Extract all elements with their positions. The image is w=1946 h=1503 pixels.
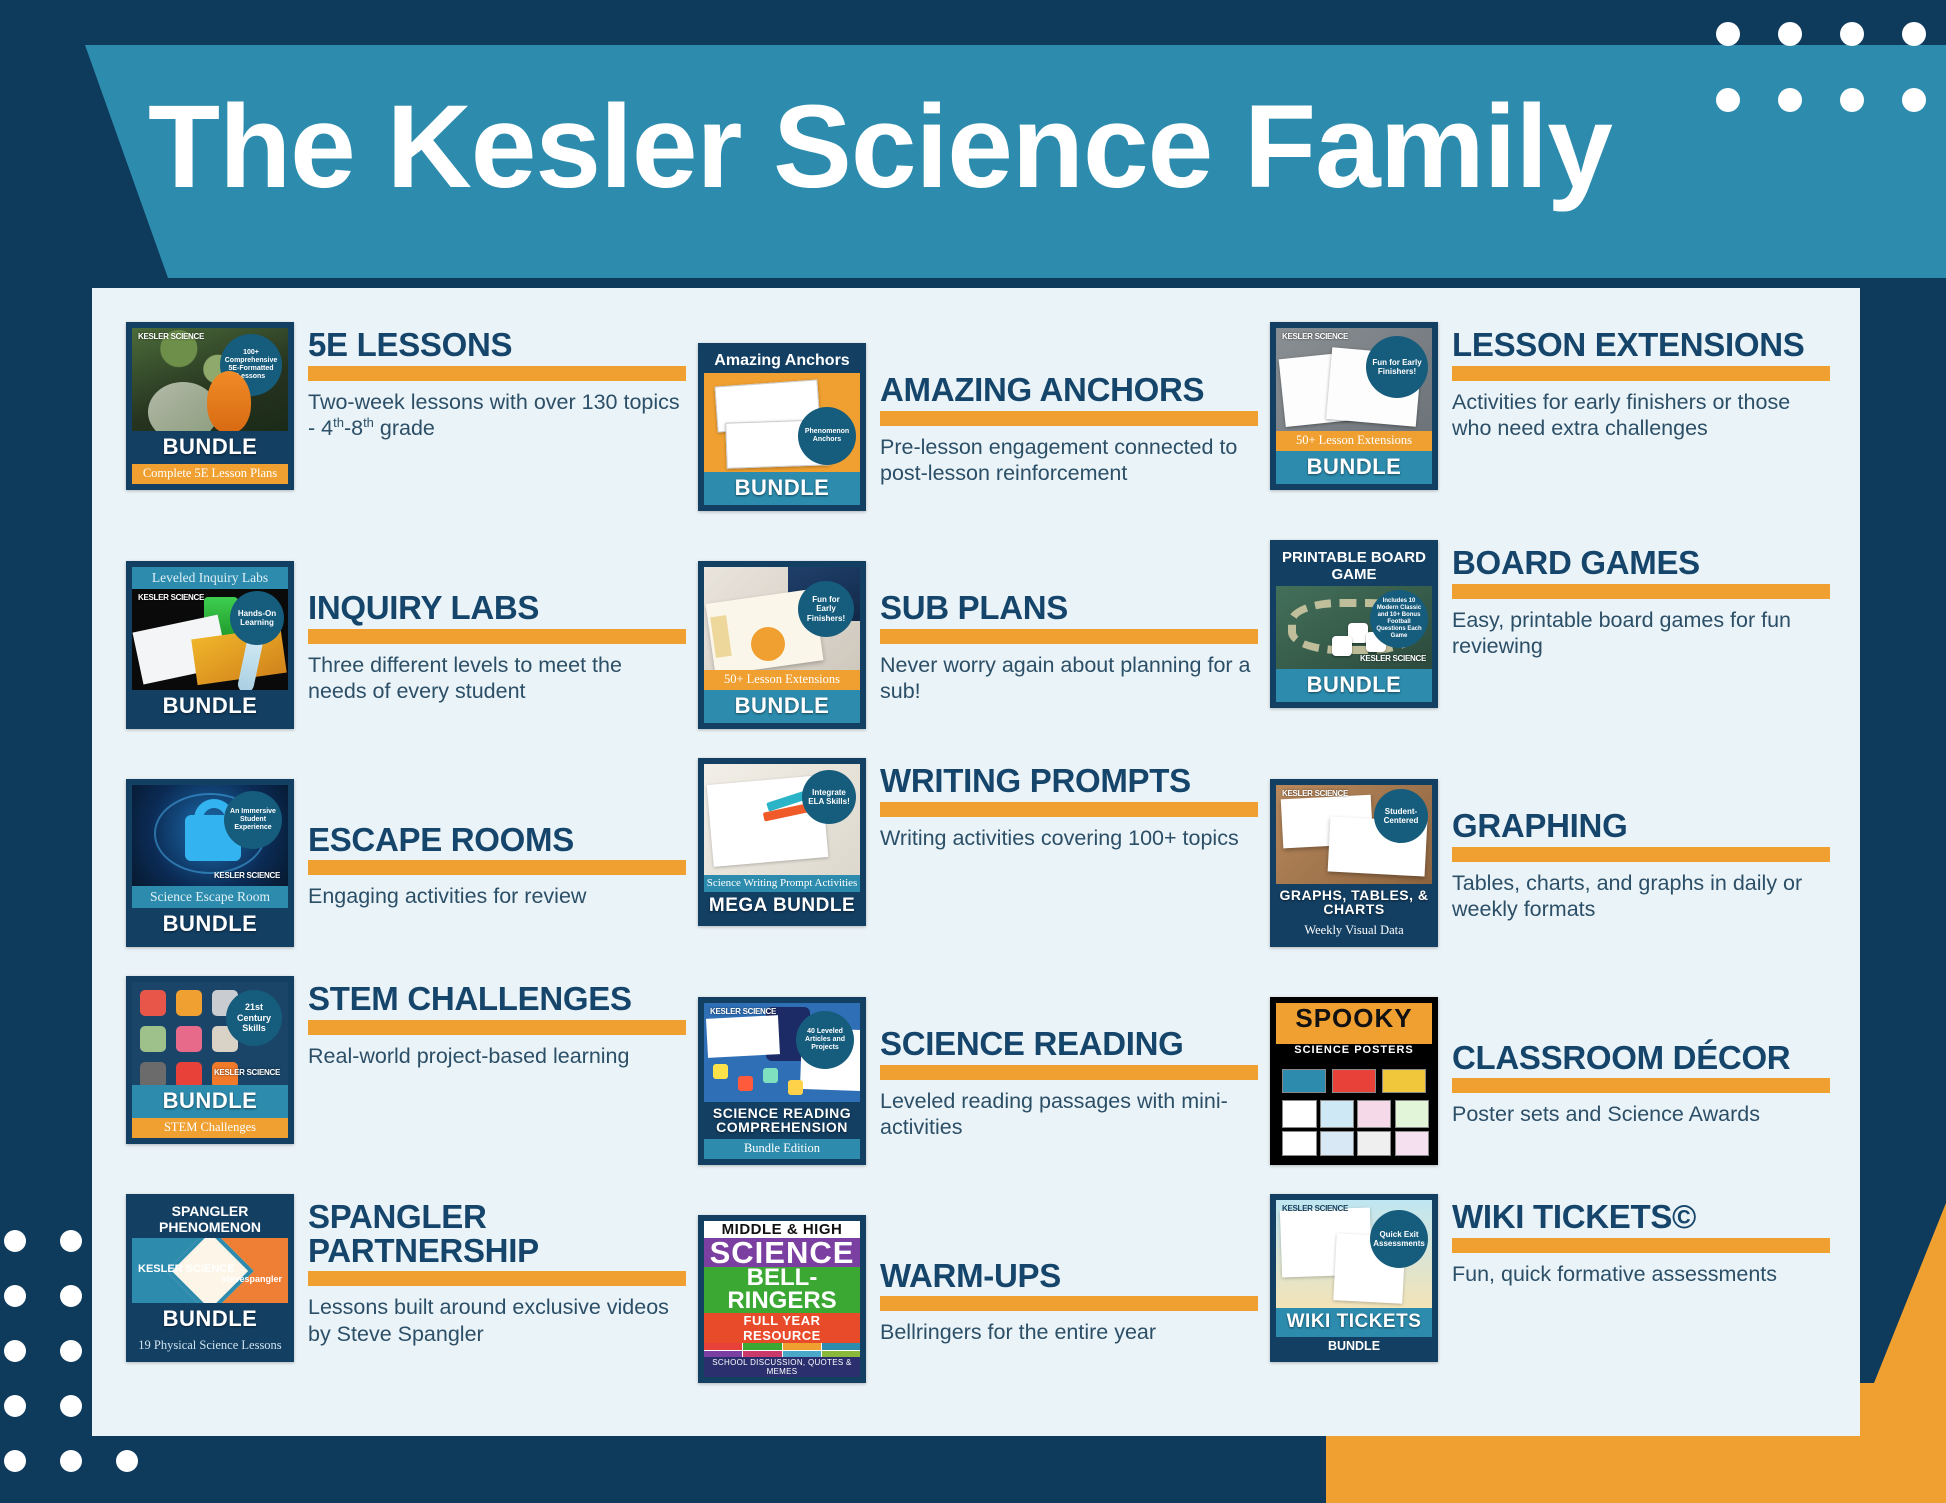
product-description: Writing activities covering 100+ topics [880, 825, 1258, 851]
product-card-5e-lessons[interactable]: KESLER SCIENCE 100+ Comprehensive 5E-For… [120, 318, 692, 536]
thumb-artwork: KESLER SCIENCE stevespangler [132, 1238, 288, 1303]
title-underline [1452, 847, 1830, 862]
thumbnail-board-games[interactable]: PRINTABLE BOARD GAME KESLER SCIENCE Incl… [1270, 540, 1438, 708]
thumb-caption: MEGA BUNDLE [704, 892, 860, 920]
kesler-logo-icon: KESLER SCIENCE [1360, 655, 1426, 663]
product-title: SCIENCE READING [880, 1027, 1258, 1061]
product-card-sub-plans[interactable]: Fun for Early Finishers! 50+ Lesson Exte… [692, 536, 1264, 754]
thumb-caption: SCIENCE READING COMPREHENSION [704, 1102, 860, 1139]
product-card-stem-challenges[interactable]: KESLER SCIENCE 21st Century Skills BUNDL… [120, 972, 692, 1190]
title-underline [880, 411, 1258, 426]
thumb-caption: BUNDLE [132, 690, 288, 723]
product-card-amazing-anchors[interactable]: Amazing Anchors Phenomenon Anchors BUNDL… [692, 318, 1264, 536]
thumbnail-warm-ups[interactable]: MIDDLE & HIGH SCIENCE BELL-RINGERS FULL … [698, 1215, 866, 1383]
product-description: Tables, charts, and graphs in daily or w… [1452, 870, 1830, 922]
thumb-artwork: SPOOKY SCIENCE POSTERS [1276, 1003, 1432, 1159]
thumb-badge: Fun for Early Finishers! [798, 581, 854, 637]
thumb-subcaption: 19 Physical Science Lessons [132, 1336, 288, 1356]
product-card-inquiry-labs[interactable]: Leveled Inquiry Labs KESLER SCIENCE Hand… [120, 536, 692, 754]
product-card-lesson-extensions[interactable]: KESLER SCIENCE Fun for Early Finishers! … [1264, 318, 1836, 536]
thumbnail-wiki-tickets[interactable]: KESLER SCIENCE Quick Exit Assessments WI… [1270, 1194, 1438, 1362]
bell-line-4: FULL YEAR RESOURCE [704, 1313, 860, 1343]
product-title: INQUIRY LABS [308, 591, 686, 625]
thumbnail-classroom-decor[interactable]: SPOOKY SCIENCE POSTERS [1270, 997, 1438, 1165]
content-panel: KESLER SCIENCE 100+ Comprehensive 5E-For… [92, 288, 1860, 1436]
product-description: Activities for early finishers or those … [1452, 389, 1830, 441]
product-title: 5E LESSONS [308, 328, 686, 362]
thumb-subcaption: BUNDLE [1276, 1337, 1432, 1356]
product-description: Never worry again about planning for a s… [880, 652, 1258, 704]
thumb-subcaption: 50+ Lesson Extensions [704, 670, 860, 690]
kesler-logo-icon: KESLER SCIENCE [1282, 790, 1348, 798]
product-title: CLASSROOM DÉCOR [1452, 1041, 1830, 1075]
product-description: Lessons built around exclusive videos by… [308, 1294, 686, 1346]
kesler-logo-icon: KESLER SCIENCE [138, 333, 204, 341]
thumb-artwork: KESLER SCIENCE 21st Century Skills [132, 982, 288, 1085]
product-description: Three different levels to meet the needs… [308, 652, 686, 704]
product-title: WIKI TICKETS© [1452, 1200, 1830, 1234]
thumb-caption: BUNDLE [704, 472, 860, 505]
product-title: BOARD GAMES [1452, 546, 1830, 580]
product-card-graphing[interactable]: KESLER SCIENCE Student-Centered GRAPHS, … [1264, 754, 1836, 972]
thumbnail-amazing-anchors[interactable]: Amazing Anchors Phenomenon Anchors BUNDL… [698, 343, 866, 511]
thumb-caption: BUNDLE [132, 431, 288, 464]
product-card-wiki-tickets[interactable]: KESLER SCIENCE Quick Exit Assessments WI… [1264, 1190, 1836, 1408]
thumbnail-5e-lessons[interactable]: KESLER SCIENCE 100+ Comprehensive 5E-For… [126, 322, 294, 490]
thumb-artwork: KESLER SCIENCE 40 Leveled Articles and P… [704, 1003, 860, 1102]
poster-subtitle: SCIENCE POSTERS [1276, 1044, 1432, 1063]
product-description: Easy, printable board games for fun revi… [1452, 607, 1830, 659]
thumb-caption: BUNDLE [132, 1303, 288, 1336]
product-card-escape-rooms[interactable]: KESLER SCIENCE An Immersive Student Expe… [120, 754, 692, 972]
product-title: WRITING PROMPTS [880, 764, 1258, 798]
thumb-caption: BUNDLE [704, 690, 860, 723]
title-underline [308, 860, 686, 875]
thumb-topcaption: Science Escape Room [132, 886, 288, 908]
product-card-classroom-decor[interactable]: SPOOKY SCIENCE POSTERS CLASSROOM DÉCOR [1264, 972, 1836, 1190]
page-title: The Kesler Science Family [148, 88, 1612, 206]
product-card-board-games[interactable]: PRINTABLE BOARD GAME KESLER SCIENCE Incl… [1264, 536, 1836, 754]
thumb-artwork: KESLER SCIENCE Student-Centered [1276, 785, 1432, 884]
product-title: STEM CHALLENGES [308, 982, 686, 1016]
product-description: Real-world project-based learning [308, 1043, 686, 1069]
kesler-logo-icon: KESLER SCIENCE [1282, 1205, 1348, 1213]
thumb-badge: Hands-On Learning [230, 591, 284, 645]
thumb-subcaption: Bundle Edition [704, 1139, 860, 1159]
thumbnail-writing-prompts[interactable]: Integrate ELA Skills! Science Writing Pr… [698, 758, 866, 926]
spangler-logo-icon: stevespangler [221, 1274, 282, 1284]
thumbnail-sub-plans[interactable]: Fun for Early Finishers! 50+ Lesson Exte… [698, 561, 866, 729]
thumbnail-inquiry-labs[interactable]: Leveled Inquiry Labs KESLER SCIENCE Hand… [126, 561, 294, 729]
thumb-subcaption: Complete 5E Lesson Plans [132, 464, 288, 484]
product-card-warm-ups[interactable]: MIDDLE & HIGH SCIENCE BELL-RINGERS FULL … [692, 1190, 1264, 1408]
product-description: Pre-lesson engagement connected to post-… [880, 434, 1258, 486]
thumb-badge: Student-Centered [1374, 789, 1428, 843]
thumbnail-stem-challenges[interactable]: KESLER SCIENCE 21st Century Skills BUNDL… [126, 976, 294, 1144]
product-description: Leveled reading passages with mini-activ… [880, 1088, 1258, 1140]
thumb-caption: BUNDLE [1276, 669, 1432, 702]
title-underline [308, 1271, 686, 1286]
product-description: Fun, quick formative assessments [1452, 1261, 1830, 1287]
product-title: GRAPHING [1452, 809, 1830, 843]
thumb-artwork: KESLER SCIENCE 100+ Comprehensive 5E-For… [132, 328, 288, 431]
product-title: SUB PLANS [880, 591, 1258, 625]
product-description: Bellringers for the entire year [880, 1319, 1258, 1345]
thumb-artwork: KESLER SCIENCE Includes 10 Modern Classi… [1276, 586, 1432, 669]
title-underline [308, 366, 686, 381]
title-underline [1452, 366, 1830, 381]
decorative-dots-top-right [1716, 0, 1946, 115]
thumb-topcaption: Leveled Inquiry Labs [132, 567, 288, 589]
product-card-science-reading[interactable]: KESLER SCIENCE 40 Leveled Articles and P… [692, 972, 1264, 1190]
thumb-artwork: Fun for Early Finishers! [704, 567, 860, 670]
kesler-logo-icon: KESLER SCIENCE [214, 872, 280, 880]
title-underline [880, 1296, 1258, 1311]
title-underline [1452, 1078, 1830, 1093]
thumb-badge: 100+ Comprehensive 5E-Formatted Lessons [220, 334, 282, 396]
product-description: Poster sets and Science Awards [1452, 1101, 1830, 1127]
product-title: LESSON EXTENSIONS [1452, 328, 1830, 362]
thumb-badge: 40 Leveled Articles and Projects [796, 1011, 854, 1069]
thumb-artwork: Phenomenon Anchors [704, 373, 860, 472]
title-underline [880, 1065, 1258, 1080]
kesler-logo-icon: KESLER SCIENCE [214, 1069, 280, 1077]
thumb-caption: BUNDLE [132, 1085, 288, 1118]
title-underline [308, 629, 686, 644]
title-underline [1452, 1238, 1830, 1253]
title-underline [1452, 584, 1830, 599]
title-underline [880, 629, 1258, 644]
thumb-caption: WIKI TICKETS [1276, 1308, 1432, 1337]
thumb-artwork: KESLER SCIENCE Quick Exit Assessments [1276, 1200, 1432, 1308]
bell-line-3: BELL-RINGERS [704, 1267, 860, 1313]
thumb-subcaption: STEM Challenges [132, 1118, 288, 1138]
kesler-logo-icon: KESLER SCIENCE [1282, 333, 1348, 341]
thumb-badge: Quick Exit Assessments [1370, 1210, 1428, 1268]
thumb-badge: Fun for Early Finishers! [1366, 336, 1428, 398]
thumbnail-lesson-extensions[interactable]: KESLER SCIENCE Fun for Early Finishers! … [1270, 322, 1438, 490]
thumb-subcaption: Weekly Visual Data [1276, 921, 1432, 941]
thumb-artwork: KESLER SCIENCE Hands-On Learning [132, 589, 288, 690]
thumb-topcaption: Science Writing Prompt Activities [704, 875, 860, 892]
thumb-artwork: Integrate ELA Skills! [704, 764, 860, 875]
thumb-caption: BUNDLE [1276, 451, 1432, 484]
thumb-topcaption: Amazing Anchors [704, 349, 860, 373]
thumb-caption: GRAPHS, TABLES, & CHARTS [1276, 884, 1432, 921]
thumbnail-graphing[interactable]: KESLER SCIENCE Student-Centered GRAPHS, … [1270, 779, 1438, 947]
thumb-badge: 21st Century Skills [226, 990, 282, 1046]
thumb-badge: Phenomenon Anchors [798, 407, 856, 465]
thumb-artwork: KESLER SCIENCE An Immersive Student Expe… [132, 785, 288, 886]
thumbnail-science-reading[interactable]: KESLER SCIENCE 40 Leveled Articles and P… [698, 997, 866, 1165]
kesler-logo-icon: KESLER SCIENCE [138, 594, 204, 602]
bell-line-5: SCHOOL DISCUSSION, QUOTES & MEMES [704, 1357, 860, 1377]
bell-line-2: SCIENCE [704, 1238, 860, 1267]
thumb-caption: BUNDLE [132, 908, 288, 941]
product-title: ESCAPE ROOMS [308, 823, 686, 857]
product-title: SPANGLER PARTNERSHIP [308, 1200, 686, 1267]
product-description: Engaging activities for review [308, 883, 686, 909]
title-underline [880, 802, 1258, 817]
thumb-badge: An Immersive Student Experience [224, 791, 282, 849]
title-underline [308, 1020, 686, 1035]
kesler-logo-icon: KESLER SCIENCE [710, 1008, 776, 1016]
thumb-subcaption: 50+ Lesson Extensions [1276, 431, 1432, 451]
product-description: Two-week lessons with over 130 topics - … [308, 389, 686, 442]
kesler-logo-icon: KESLER SCIENCE [138, 1264, 235, 1275]
thumb-artwork: KESLER SCIENCE Fun for Early Finishers! [1276, 328, 1432, 431]
product-grid: KESLER SCIENCE 100+ Comprehensive 5E-For… [92, 288, 1860, 1436]
thumb-topcaption: SPANGLER PHENOMENON [132, 1200, 288, 1238]
product-card-spangler-partnership[interactable]: SPANGLER PHENOMENON KESLER SCIENCE steve… [120, 1190, 692, 1408]
thumb-topcaption: PRINTABLE BOARD GAME [1276, 546, 1432, 586]
thumb-badge: Includes 10 Modern Classic and 10+ Bonus… [1370, 590, 1428, 648]
product-title: WARM-UPS [880, 1259, 1258, 1293]
thumb-badge: Integrate ELA Skills! [802, 770, 856, 824]
thumbnail-escape-rooms[interactable]: KESLER SCIENCE An Immersive Student Expe… [126, 779, 294, 947]
product-card-writing-prompts[interactable]: Integrate ELA Skills! Science Writing Pr… [692, 754, 1264, 972]
thumb-artwork: MIDDLE & HIGH SCIENCE BELL-RINGERS FULL … [704, 1221, 860, 1377]
poster-title: SPOOKY [1276, 1003, 1432, 1044]
product-title: AMAZING ANCHORS [880, 373, 1258, 407]
thumbnail-spangler[interactable]: SPANGLER PHENOMENON KESLER SCIENCE steve… [126, 1194, 294, 1362]
